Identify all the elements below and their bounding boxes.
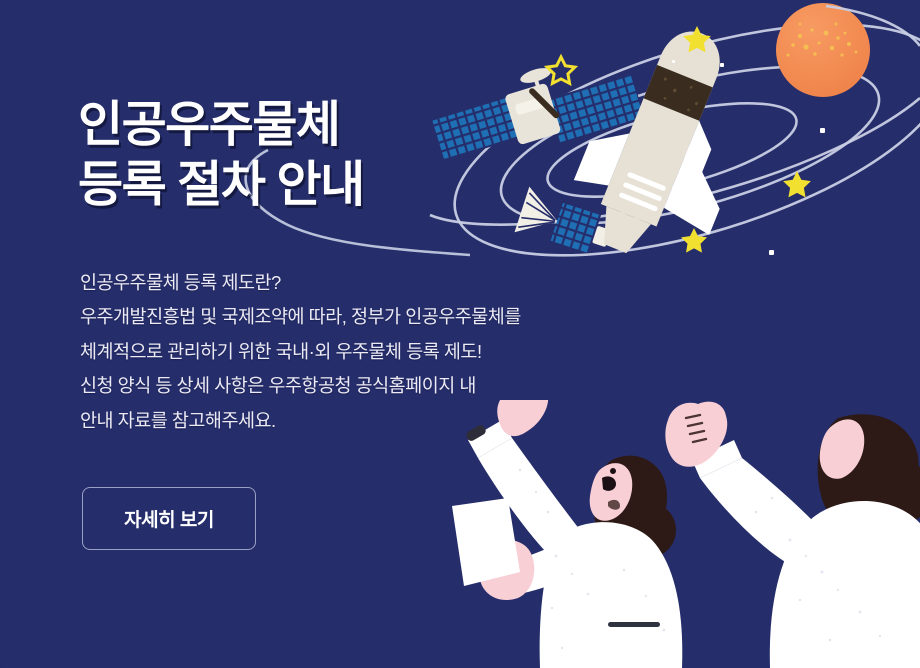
page-title: 인공우주물체 등록 절차 안내 [78, 95, 364, 215]
banner-content: 인공우주물체 등록 절차 안내 인공우주물체 등록 제도란? 우주개발진흥법 및… [0, 0, 920, 668]
space-object-registration-banner: 인공우주물체 등록 절차 안내 인공우주물체 등록 제도란? 우주개발진흥법 및… [0, 0, 920, 668]
banner-description: 인공우주물체 등록 제도란? 우주개발진흥법 및 국제조약에 따라, 정부가 인… [80, 266, 521, 439]
view-details-button[interactable]: 자세히 보기 [82, 487, 256, 550]
